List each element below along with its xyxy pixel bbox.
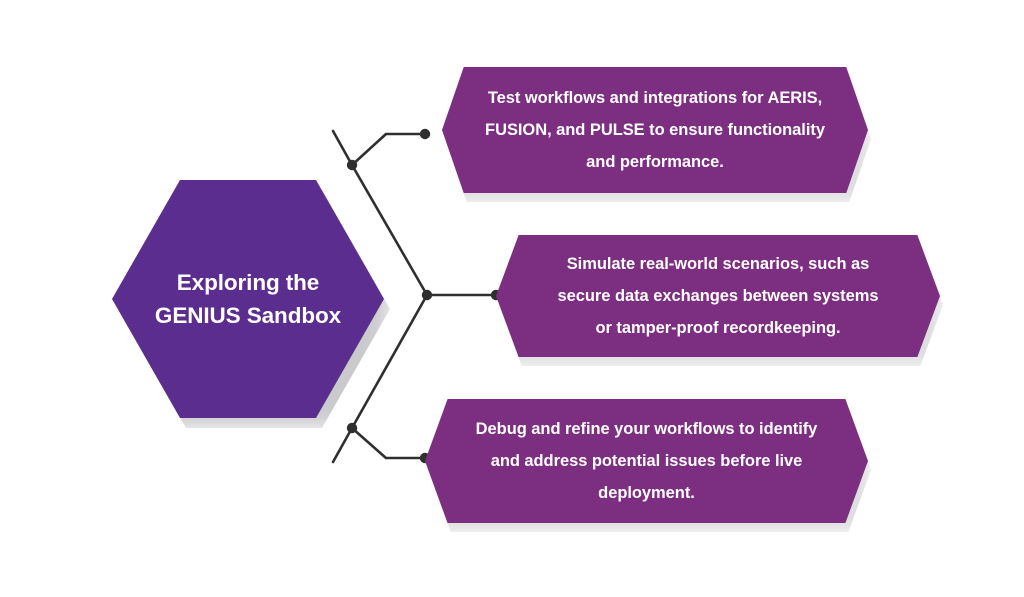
connector-dot-middle-vertex bbox=[422, 290, 432, 300]
callout-text: Test workflows and integrations for AERI… bbox=[478, 82, 833, 179]
connector-dot-top-vertex bbox=[347, 160, 357, 170]
center-hexagon-title: Exploring the GENIUS Sandbox bbox=[148, 266, 348, 333]
center-hexagon: Exploring the GENIUS Sandbox bbox=[108, 176, 390, 424]
callout-item: Simulate real-world scenarios, such as s… bbox=[496, 235, 940, 357]
connector-dot-bottom-vertex bbox=[347, 423, 357, 433]
callout-text: Simulate real-world scenarios, such as s… bbox=[541, 248, 896, 345]
diagram-canvas: Exploring the GENIUS Sandbox Test workfl… bbox=[0, 0, 1024, 597]
callout-text: Debug and refine your workflows to ident… bbox=[469, 413, 824, 510]
callout-item: Debug and refine your workflows to ident… bbox=[425, 399, 868, 523]
callout-item: Test workflows and integrations for AERI… bbox=[442, 67, 868, 193]
connector-dot-top-end bbox=[420, 129, 430, 139]
